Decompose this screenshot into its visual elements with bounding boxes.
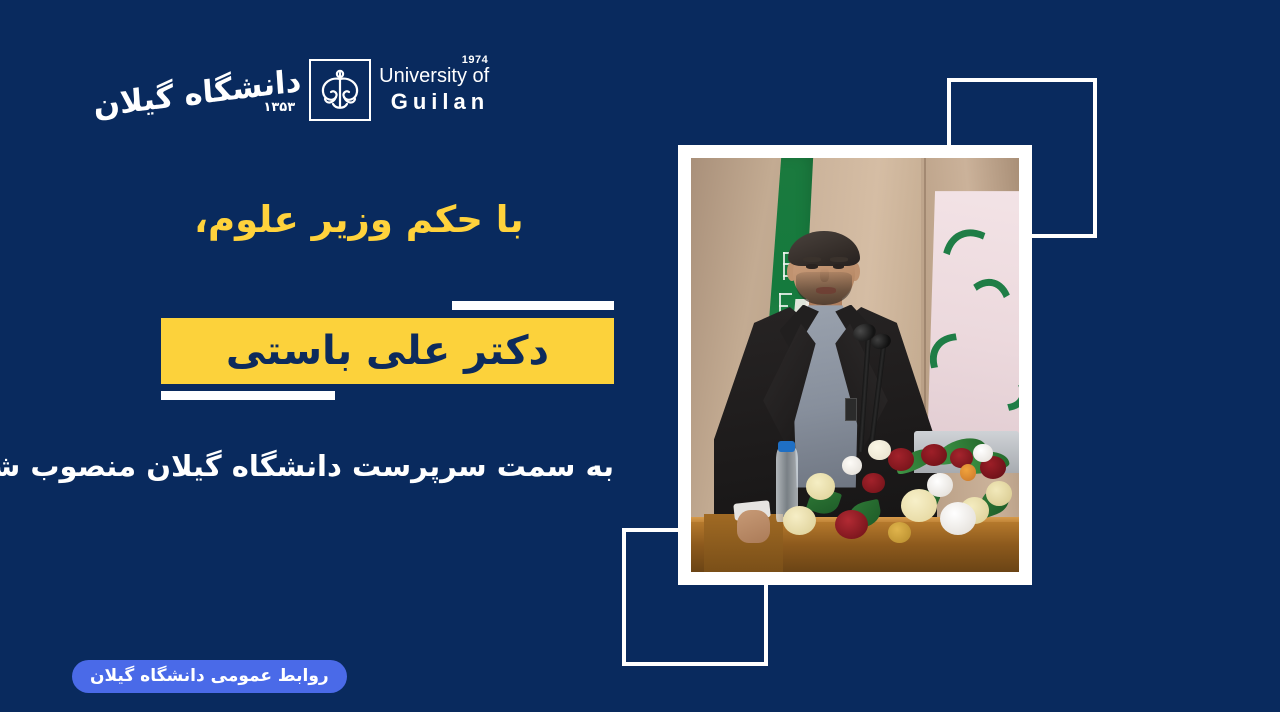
water-bottle-cap: [778, 441, 795, 452]
public-relations-badge-label: روابط عمومی دانشگاه گیلان: [90, 668, 329, 685]
accent-bar-bottom: [161, 391, 335, 400]
logo-persian-text: دانشگاه گیلان ۱۳۵۳: [92, 44, 301, 136]
logo-english-year: 1974: [462, 55, 488, 67]
headline-subline: به سمت سرپرست دانشگاه گیلان منصوب شد: [94, 449, 614, 483]
speaker-eyebrow-right: [830, 257, 848, 262]
logo-english-line1-text: University of: [379, 65, 489, 87]
public-relations-badge: روابط عمومی دانشگاه گیلان: [72, 660, 347, 693]
institutional-flag: [927, 191, 1019, 448]
speaker-eyebrow-left: [803, 257, 821, 262]
name-banner: دکتر علی باستی: [161, 318, 614, 384]
headline-kicker: با حکم وزیر علوم،: [194, 198, 614, 241]
speaker-mouth: [816, 287, 836, 294]
speaker-photo: [691, 158, 1019, 572]
logo-english-line1: University of 1974: [379, 66, 489, 87]
accent-bar-top: [452, 301, 614, 310]
speaker-pocket-badge: [845, 398, 857, 421]
speaker-hand: [737, 510, 770, 543]
speaker-photo-frame: [678, 145, 1032, 585]
speaker-eye-left: [806, 264, 817, 269]
university-logo: دانشگاه گیلان ۱۳۵۳ University of: [88, 44, 408, 136]
emblem-ornament-icon: [309, 59, 371, 121]
logo-english-text: University of 1974 Guilan: [379, 59, 489, 121]
speaker-eye-right: [833, 264, 844, 269]
guilan-university-emblem-icon: [309, 59, 371, 121]
poster-canvas: دانشگاه گیلان ۱۳۵۳ University of: [0, 0, 1280, 712]
logo-english-line2: Guilan: [391, 89, 489, 114]
appointee-name: دکتر علی باستی: [226, 331, 549, 371]
